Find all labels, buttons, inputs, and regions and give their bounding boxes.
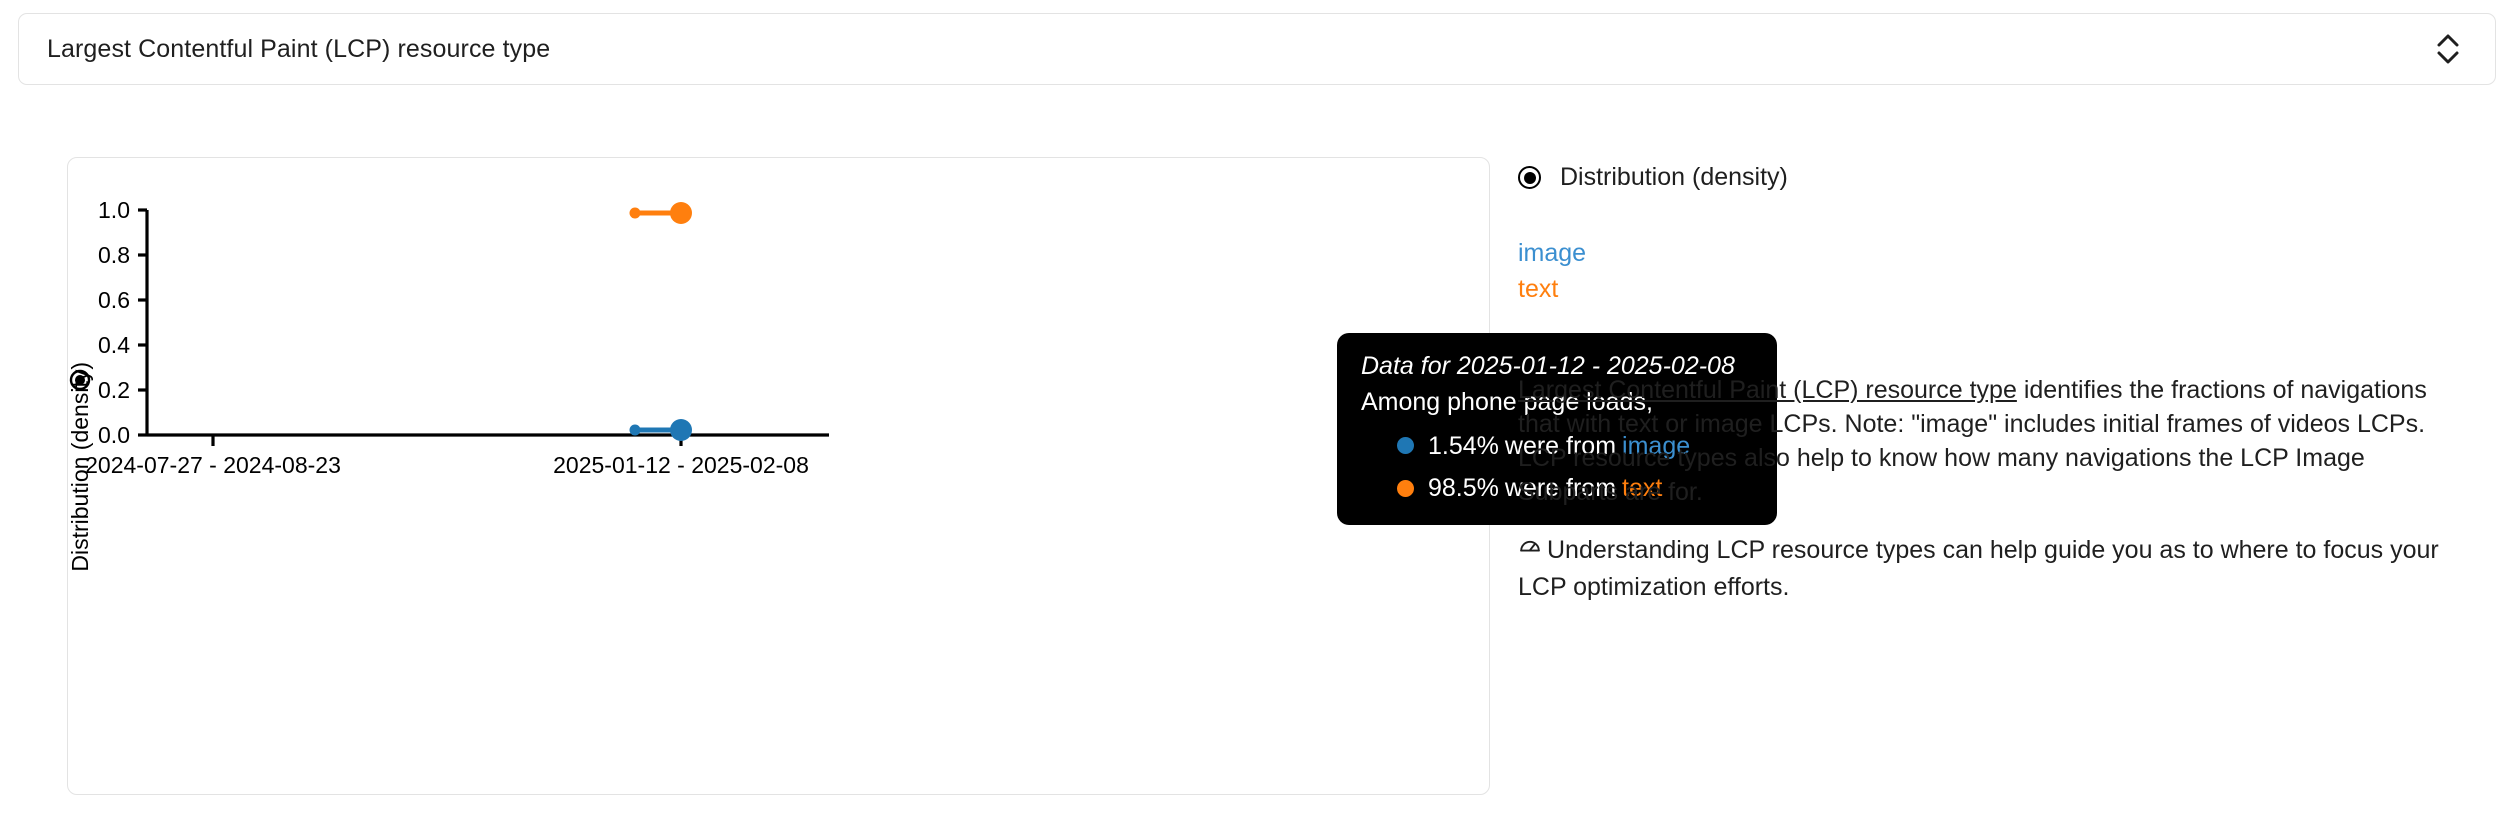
y-axis-ticks: 1.0 0.8 0.6 0.4 0.2 0.0 — [98, 197, 147, 448]
tooltip-image-value: 1.54% — [1428, 430, 1499, 463]
legend-item-text[interactable]: text — [1518, 272, 2478, 308]
x-axis-ticks: 2024-07-27 - 2024-08-23 2025-01-12 - 202… — [85, 435, 809, 478]
lcp-resource-type-chart[interactable]: 1.0 0.8 0.6 0.4 0.2 0.0 Distribution (de… — [68, 158, 1491, 796]
description-link[interactable]: Largest Contentful Paint (LCP) resource … — [1518, 376, 2017, 404]
x-tick-label: 2025-01-12 - 2025-02-08 — [553, 452, 809, 478]
series-image[interactable] — [630, 419, 693, 441]
series-dot-image — [1395, 435, 1416, 456]
y-tick-label: 0.8 — [98, 242, 130, 268]
description-block: Largest Contentful Paint (LCP) resource … — [1518, 373, 2458, 509]
y-tick-label: 0.2 — [98, 377, 130, 403]
chart-card: 1.0 0.8 0.6 0.4 0.2 0.0 Distribution (de… — [67, 157, 1490, 795]
y-tick-label: 1.0 — [98, 197, 130, 223]
gauge-icon — [1518, 536, 1542, 570]
data-point-highlighted[interactable] — [670, 202, 692, 224]
series-text[interactable] — [630, 202, 693, 224]
y-tick-label: 0.4 — [98, 332, 130, 358]
side-panel: Distribution (density) image text Larges… — [1518, 157, 2478, 604]
metric-radio-distribution[interactable]: Distribution (density) — [1518, 163, 2478, 192]
page-title: Largest Contentful Paint (LCP) resource … — [47, 34, 550, 64]
gauge-glyph — [1518, 537, 1542, 561]
tip-text: Understanding LCP resource types can hel… — [1518, 536, 2439, 601]
chart-legend: image text — [1518, 236, 2478, 307]
lcp-resource-type-panel: Largest Contentful Paint (LCP) resource … — [0, 0, 2512, 820]
legend-item-image[interactable]: image — [1518, 236, 2478, 272]
data-point[interactable] — [630, 425, 641, 436]
tooltip-text-value: 98.5% — [1428, 472, 1499, 505]
y-tick-label: 0.0 — [98, 422, 130, 448]
section-header[interactable]: Largest Contentful Paint (LCP) resource … — [18, 13, 2496, 85]
chevron-up-down-glyph — [2435, 32, 2461, 66]
data-point-highlighted[interactable] — [670, 419, 692, 441]
tip-block: Understanding LCP resource types can hel… — [1518, 533, 2458, 604]
x-tick-label: 2024-07-27 - 2024-08-23 — [85, 452, 341, 478]
radio-selected-icon[interactable] — [1518, 166, 1541, 189]
metric-radio-label: Distribution (density) — [1560, 163, 1788, 192]
series-dot-text — [1395, 478, 1416, 499]
chevron-up-down-icon[interactable] — [2427, 24, 2469, 74]
data-point[interactable] — [630, 208, 641, 219]
y-tick-label: 0.6 — [98, 287, 130, 313]
